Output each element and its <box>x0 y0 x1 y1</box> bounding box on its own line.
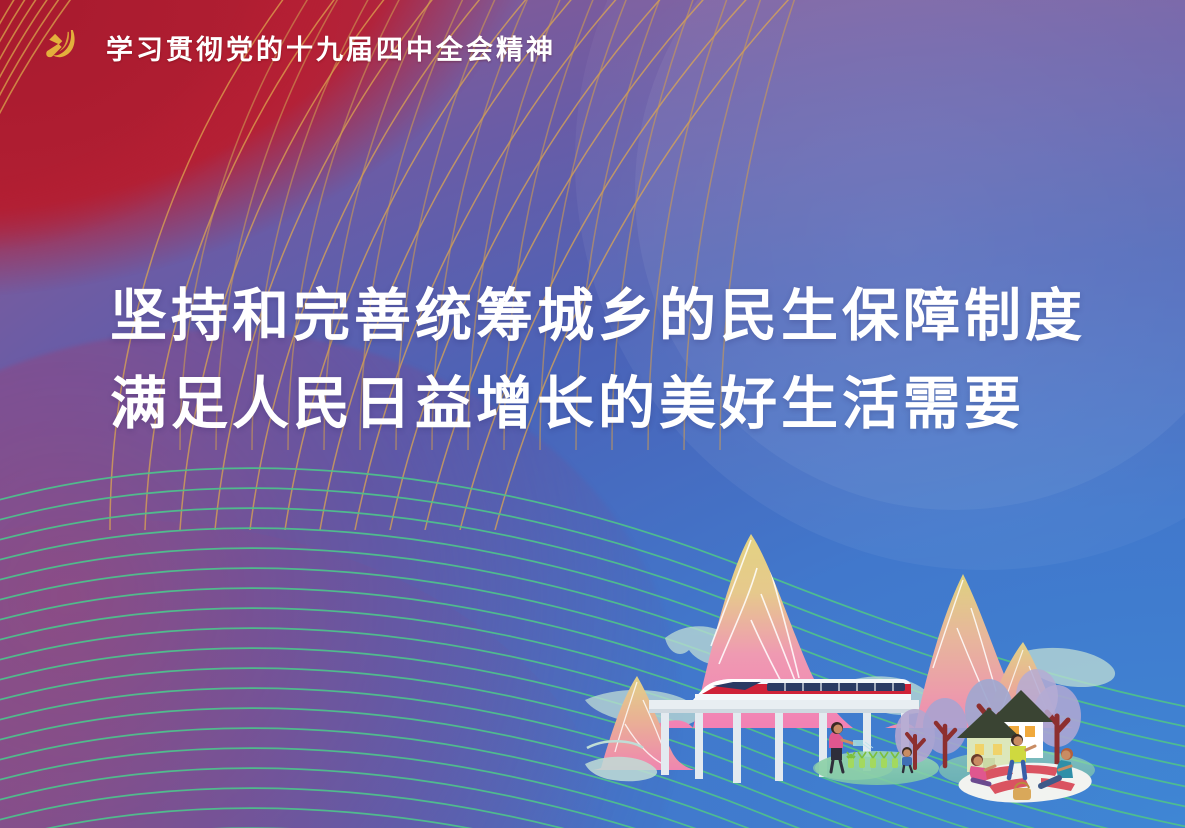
party-emblem-hammer-sickle-icon <box>40 26 82 68</box>
header-title: 学习贯彻党的十九届四中全会精神 <box>106 28 556 67</box>
landscape-illustration <box>585 468 1185 828</box>
high-speed-train-icon <box>693 679 911 700</box>
main-title-line-1: 坚持和完善统筹城乡的民生保障制度 <box>110 272 1086 360</box>
poster-header: 学习贯彻党的十九届四中全会精神 <box>0 0 556 68</box>
poster-root: 学习贯彻党的十九届四中全会精神 坚持和完善统筹城乡的民生保障制度 满足人民日益增… <box>0 0 1185 828</box>
mountain-small-icon <box>585 676 695 781</box>
main-title-line-2: 满足人民日益增长的美好生活需要 <box>110 360 1086 448</box>
main-title: 坚持和完善统筹城乡的民生保障制度 满足人民日益增长的美好生活需要 <box>110 272 1086 448</box>
